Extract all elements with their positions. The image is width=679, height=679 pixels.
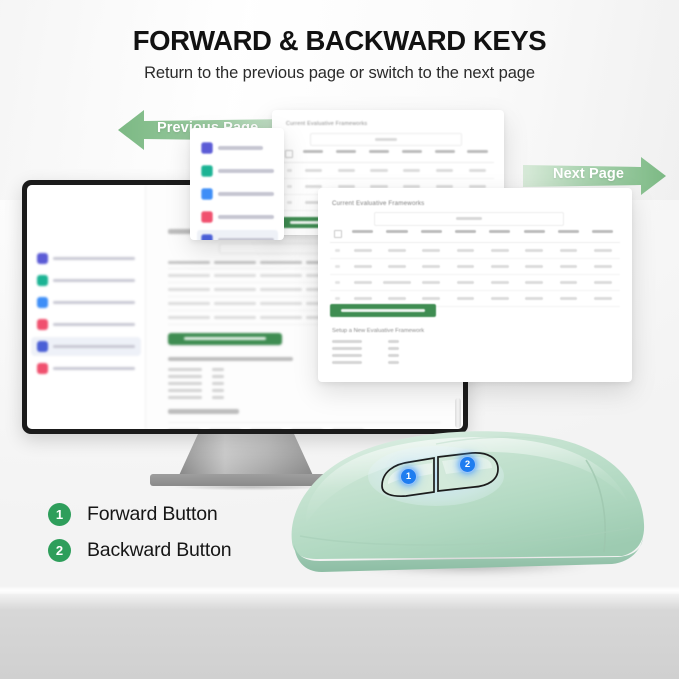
vendor-criteria-icon <box>201 211 213 223</box>
card-table <box>330 230 620 307</box>
cell-modify[interactable] <box>551 297 585 300</box>
evaluative-frameworks-icon <box>37 341 48 352</box>
app-sidebar[interactable] <box>27 185 146 429</box>
vendor-certification-icon <box>37 275 48 286</box>
cell-view[interactable] <box>345 297 379 300</box>
table-column-header-modify[interactable] <box>551 230 585 238</box>
cell-region <box>414 249 448 252</box>
sidebar-menu-list <box>197 138 278 240</box>
row-checkbox[interactable] <box>330 297 345 300</box>
setup-field[interactable] <box>168 382 442 385</box>
cell-discipline <box>448 297 482 300</box>
dashboard-icon <box>201 142 213 154</box>
table-column-header-evaluative-frameworks[interactable] <box>517 230 551 238</box>
cell-other <box>483 249 517 252</box>
sidebar-item-label <box>53 257 135 261</box>
table-column-header[interactable] <box>260 261 302 264</box>
sidebar-item-sub-vendor-certification[interactable] <box>31 293 141 312</box>
table-column-header-view[interactable] <box>345 230 379 238</box>
sidebar-item-label <box>218 192 274 195</box>
sidebar-item-vendor-criteria[interactable] <box>31 315 141 334</box>
cell-modify[interactable] <box>551 249 585 252</box>
table-column-header[interactable] <box>428 150 461 158</box>
sidebar-item-label <box>53 323 135 327</box>
sidebar-item-sub-vendor-certification[interactable] <box>197 184 278 204</box>
cell-view[interactable] <box>345 249 379 252</box>
cell-modify[interactable] <box>551 265 585 268</box>
cell-modify[interactable] <box>551 281 585 284</box>
search-input[interactable] <box>374 212 564 226</box>
table-column-header[interactable] <box>330 150 363 158</box>
legend-badge-1: 1 <box>48 503 71 526</box>
select-all-checkbox[interactable] <box>330 230 345 238</box>
floating-card-sidebar-menu[interactable] <box>190 128 284 240</box>
sidebar-item-label <box>53 301 135 305</box>
cell-discipline <box>448 281 482 284</box>
add-new-evaluative-framework-button[interactable] <box>330 304 436 317</box>
table-header-row <box>330 230 620 243</box>
table-column-header-duplicate[interactable] <box>586 230 620 238</box>
legend-row-forward: 1 Forward Button <box>48 503 231 526</box>
sidebar-item-vendor-certification[interactable] <box>31 271 141 290</box>
sidebar-item-advanced-settings[interactable] <box>31 359 141 378</box>
cell-view[interactable] <box>345 281 379 284</box>
section-heading-setup-framework: Setup a New Evaluative Framework <box>332 328 424 334</box>
mouse-body <box>286 424 648 582</box>
sidebar-item-label <box>218 169 274 172</box>
card-title: Current Evaluative Frameworks <box>332 200 424 207</box>
legend: 1 Forward Button 2 Backward Button <box>48 503 231 575</box>
table-row[interactable] <box>330 243 620 259</box>
cell-sub-vendor <box>380 265 414 268</box>
computer-mouse[interactable]: 1 2 <box>286 424 648 582</box>
sidebar-item-label <box>53 279 135 283</box>
table-column-header-other[interactable] <box>483 230 517 238</box>
table-column-header-region[interactable] <box>414 230 448 238</box>
table-column-header[interactable] <box>297 150 330 158</box>
add-new-evaluative-framework-button[interactable] <box>168 333 283 345</box>
cell-duplicate[interactable] <box>586 281 620 284</box>
sidebar-item-label <box>218 146 263 149</box>
select-all-checkbox[interactable] <box>282 150 297 158</box>
vendor-certification-icon <box>201 165 213 177</box>
cell-sub-vendor <box>380 281 414 284</box>
table-column-header[interactable] <box>395 150 428 158</box>
dashboard-icon <box>37 253 48 264</box>
sidebar-item-dashboard[interactable] <box>197 138 278 158</box>
search-input[interactable] <box>310 133 462 146</box>
legend-badge-2: 2 <box>48 539 71 562</box>
cell-evaluative-framework <box>517 281 551 284</box>
vendor-criteria-icon <box>37 319 48 330</box>
row-checkbox[interactable] <box>330 249 345 252</box>
table-column-header[interactable] <box>461 150 494 158</box>
table-column-header[interactable] <box>168 261 210 264</box>
mouse-badge-forward[interactable]: 1 <box>400 468 417 485</box>
background-lower-glow <box>0 594 679 610</box>
cell-duplicate[interactable] <box>586 249 620 252</box>
cell-other <box>483 297 517 300</box>
advanced-settings-icon <box>37 363 48 374</box>
table-row[interactable] <box>330 259 620 275</box>
sidebar-item-vendor-criteria[interactable] <box>197 207 278 227</box>
legend-label-backward: Backward Button <box>87 539 231 562</box>
cell-duplicate[interactable] <box>586 297 620 300</box>
next-page-label: Next Page <box>553 166 624 182</box>
table-column-header[interactable] <box>214 261 256 264</box>
sidebar-item-evaluative-frameworks[interactable] <box>31 337 141 356</box>
table-header-row <box>282 150 494 163</box>
cell-duplicate[interactable] <box>586 265 620 268</box>
section-heading-governance <box>168 409 239 414</box>
sidebar-item-vendor-certification[interactable] <box>197 161 278 181</box>
screenshot-stage: FORWARD & BACKWARD KEYS Return to the pr… <box>0 0 679 679</box>
row-checkbox[interactable] <box>330 281 345 284</box>
sidebar-item-evaluative-frameworks[interactable] <box>197 230 278 240</box>
section-heading-setup-framework <box>168 357 294 362</box>
page-subtitle: Return to the previous page or switch to… <box>0 64 679 83</box>
row-checkbox[interactable] <box>330 265 345 268</box>
sub-vendor-certification-icon <box>37 297 48 308</box>
setup-field-other[interactable] <box>332 361 399 364</box>
sidebar-item-label <box>218 238 274 240</box>
cell-region <box>414 265 448 268</box>
table-column-header[interactable] <box>363 150 396 158</box>
setup-field[interactable] <box>168 389 442 392</box>
table-column-header-discipline[interactable] <box>448 230 482 238</box>
setup-fields <box>332 340 399 368</box>
setup-field-sub-vendor[interactable] <box>332 340 399 343</box>
header: FORWARD & BACKWARD KEYS Return to the pr… <box>0 26 679 83</box>
cell-view[interactable] <box>345 265 379 268</box>
table-column-header-sub-vendor[interactable] <box>380 230 414 238</box>
sidebar-item-label <box>218 215 274 218</box>
cell-discipline <box>448 265 482 268</box>
setup-field-region[interactable] <box>332 347 399 350</box>
cell-evaluative-framework <box>517 265 551 268</box>
sub-vendor-certification-icon <box>201 188 213 200</box>
sidebar-item-dashboard[interactable] <box>31 249 141 268</box>
table-row[interactable] <box>282 163 494 179</box>
sidebar-item-label <box>53 345 135 349</box>
setup-field-discipline[interactable] <box>332 354 399 357</box>
cell-region <box>414 281 448 284</box>
evaluative-frameworks-icon <box>201 234 213 240</box>
cell-sub-vendor <box>380 297 414 300</box>
legend-label-forward: Forward Button <box>87 503 218 526</box>
cell-sub-vendor <box>380 249 414 252</box>
page-title: FORWARD & BACKWARD KEYS <box>0 26 679 57</box>
cell-other <box>483 281 517 284</box>
floating-card-front[interactable]: Current Evaluative Frameworks <box>318 188 632 382</box>
table-row[interactable] <box>330 275 620 291</box>
mouse-badge-backward[interactable]: 2 <box>459 456 476 473</box>
cell-region <box>414 297 448 300</box>
cell-other <box>483 265 517 268</box>
cell-evaluative-framework <box>517 249 551 252</box>
cell-evaluative-framework <box>517 297 551 300</box>
cell-discipline <box>448 249 482 252</box>
sidebar-item-label <box>53 367 135 371</box>
card-title: Current Evaluative Frameworks <box>286 121 367 127</box>
legend-row-backward: 2 Backward Button <box>48 539 231 562</box>
setup-field[interactable] <box>168 396 442 399</box>
